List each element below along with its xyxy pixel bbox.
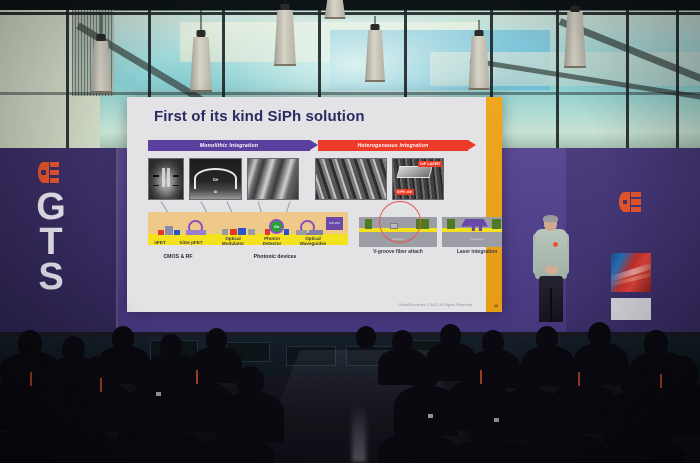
lamp-cap (97, 34, 106, 41)
aisle-light-reflection (352, 404, 366, 462)
photon-detector-label-line2: Detector (263, 241, 282, 246)
slide-title: First of its kind SiPh solution (154, 108, 365, 125)
attendee-lanyard (196, 370, 198, 384)
ge-chip-label: Ge (274, 224, 279, 229)
presenter-shirt-logo (553, 242, 558, 247)
optical-waveguides-label-line1: Optical (305, 236, 321, 241)
banner-white-block (611, 298, 651, 320)
attendee-badge (156, 392, 161, 396)
optical-waveguides-label: Optical Waveguides (292, 236, 334, 247)
slide-copyright: GlobalFoundries © 2022 All Rights Reserv… (398, 303, 472, 307)
sem-feature (162, 168, 165, 187)
cmos-rf-group-label: CMOS & RF (147, 254, 209, 260)
sige-pfet-body (186, 230, 206, 235)
sem-image-ge-dome: Ge Si (189, 158, 242, 200)
arrow-tip (468, 140, 476, 150)
vgroove-highlight-circle (379, 201, 421, 243)
optical-waveguides-label-line2: Waveguides (300, 241, 327, 246)
optical-modulator-label-line1: Optical (225, 236, 241, 241)
nfet-device (158, 226, 180, 235)
lamp-cap (475, 30, 484, 37)
audience-head (356, 326, 376, 348)
gf-logo-shape (50, 162, 59, 167)
attendee-lanyard (30, 372, 32, 386)
sem-feature (167, 168, 170, 187)
gf-logo-shape (631, 192, 641, 197)
lamp-cap (371, 24, 380, 31)
audience-shoulders (450, 440, 530, 463)
pendant-lamp (188, 10, 214, 108)
sem-feature (173, 175, 178, 177)
pendant-lamp (272, 0, 298, 80)
attendee-lanyard (660, 374, 662, 388)
gts-letter-s: S (28, 260, 74, 295)
gf-logo-shape (50, 178, 59, 183)
audience-shoulders (522, 434, 606, 463)
modulator-contact (222, 229, 228, 235)
inp-laser-badge: InP LASER (418, 161, 442, 167)
sem-image-laser-die: InP LASER SiPh die (392, 158, 444, 200)
laser-integration-label: Laser integration (440, 250, 502, 256)
sem-image-heterogeneous (315, 158, 387, 200)
audience-shoulders (194, 438, 274, 463)
nfet-label: nFET (147, 240, 173, 245)
attendee-lanyard (480, 370, 482, 384)
monolithic-integration-label: Monolithic Integration (148, 140, 310, 151)
audience-shoulders (122, 430, 202, 463)
laser-block-left (447, 219, 455, 229)
heterogeneous-integration-label: Heterogeneous Integration (318, 140, 468, 151)
gf-logo-shape (50, 170, 59, 175)
nfet-gate (165, 226, 173, 235)
pendant-lamp (322, 0, 348, 44)
sem-image-waveguides (247, 158, 299, 200)
gts-banner-letters: G T S (28, 190, 74, 295)
vgroove-fiber-attach-label: V-groove fiber attach (357, 250, 439, 256)
presenter-leg-gap (550, 288, 552, 322)
lamp-cord (101, 12, 102, 36)
vertical-mullion (556, 10, 559, 150)
sem-image-transistor (148, 158, 184, 200)
presenter (533, 216, 569, 320)
lamp-cord (201, 10, 202, 32)
slide-page-number: 48 (494, 304, 498, 308)
lamp-shade (564, 12, 586, 68)
waveguide-block-left (296, 230, 307, 235)
banner-edge-highlight (116, 148, 118, 348)
vertical-mullion (676, 10, 679, 150)
laser-integration-cross-section: Substrate (442, 217, 502, 247)
substrate-label: Substrate (471, 237, 484, 241)
siph-die-badge: SiPh die (395, 189, 414, 195)
sem-feature (153, 175, 158, 177)
audience-shoulders (602, 440, 686, 463)
lamp-cap (197, 30, 206, 37)
gf-logo (619, 192, 641, 212)
sin-waveguide-chip: SiN WG (326, 217, 343, 230)
attendee-lanyard (578, 372, 580, 386)
presenter-hands (545, 266, 558, 274)
nfet-drain (174, 230, 180, 235)
gf-logo (38, 162, 59, 183)
vgroove-block-left (365, 219, 372, 229)
sin-waveguide-label: SiN WG (329, 222, 340, 225)
presenter-hair (543, 215, 558, 222)
lamp-shade (469, 36, 490, 90)
lamp-cap (281, 4, 290, 11)
modulator-n-region (230, 229, 237, 235)
gts-letter-g: G (28, 190, 74, 225)
gf-logo-shape (631, 199, 641, 204)
sem-feature (173, 185, 178, 187)
attendee-lanyard (100, 378, 102, 392)
gf-logo-shape (631, 207, 641, 212)
modulator-contact-2 (248, 229, 255, 235)
nfet-source (158, 230, 164, 235)
ge-photodetector: Ge (269, 219, 284, 234)
photon-detector-label: Photon Detector (255, 236, 289, 247)
pendant-lamp (562, 2, 588, 98)
lamp-shade (365, 30, 385, 82)
gf-logo-notch (41, 170, 46, 175)
optical-modulator-label: Optical Modulator (215, 236, 251, 247)
lamp-shade (325, 0, 346, 19)
conference-photo: G T S First of its kind SiPh solution Mo… (0, 0, 700, 463)
modulator-core (238, 228, 246, 235)
banner-graphic-image (611, 253, 651, 292)
photon-detector-label-line1: Photon (264, 236, 280, 241)
sem-feature (153, 185, 158, 187)
vertical-mullion (626, 10, 629, 150)
gts-letter-t: T (28, 225, 74, 260)
pendant-lamp (88, 12, 114, 110)
vertical-mullion (66, 10, 69, 150)
lamp-cap (571, 6, 580, 13)
heterogeneous-integration-arrow: Heterogeneous Integration (318, 140, 476, 151)
lamp-shade (91, 41, 112, 93)
laser-die-feature (397, 166, 433, 178)
gf-logo-notch (623, 200, 628, 205)
lamp-shade (274, 10, 296, 66)
laser-block-right (492, 219, 501, 229)
photonic-devices-group-label: Photonic devices (227, 254, 323, 260)
optical-modulator-device (222, 228, 256, 235)
ge-label: Ge (213, 177, 219, 182)
detector-contact-right (284, 229, 289, 235)
monolithic-integration-arrow: Monolithic Integration (148, 140, 318, 151)
optical-modulator-label-line2: Modulator (222, 241, 244, 246)
sige-pfet-label: SiGe pFET (173, 240, 209, 245)
audience-shoulders (52, 436, 132, 463)
attendee-badge (494, 418, 499, 422)
waveguide-block-right (309, 230, 323, 235)
sige-pfet-device (186, 230, 206, 235)
arrow-tip (310, 140, 318, 150)
slide-accent-bar (486, 97, 502, 312)
lamp-shade (190, 37, 212, 92)
attendee-badge (428, 414, 433, 418)
pendant-lamp (362, 16, 388, 106)
si-label: Si (214, 189, 218, 194)
audience-shoulders (378, 434, 458, 463)
presentation-slide: First of its kind SiPh solution Monolith… (127, 97, 502, 312)
